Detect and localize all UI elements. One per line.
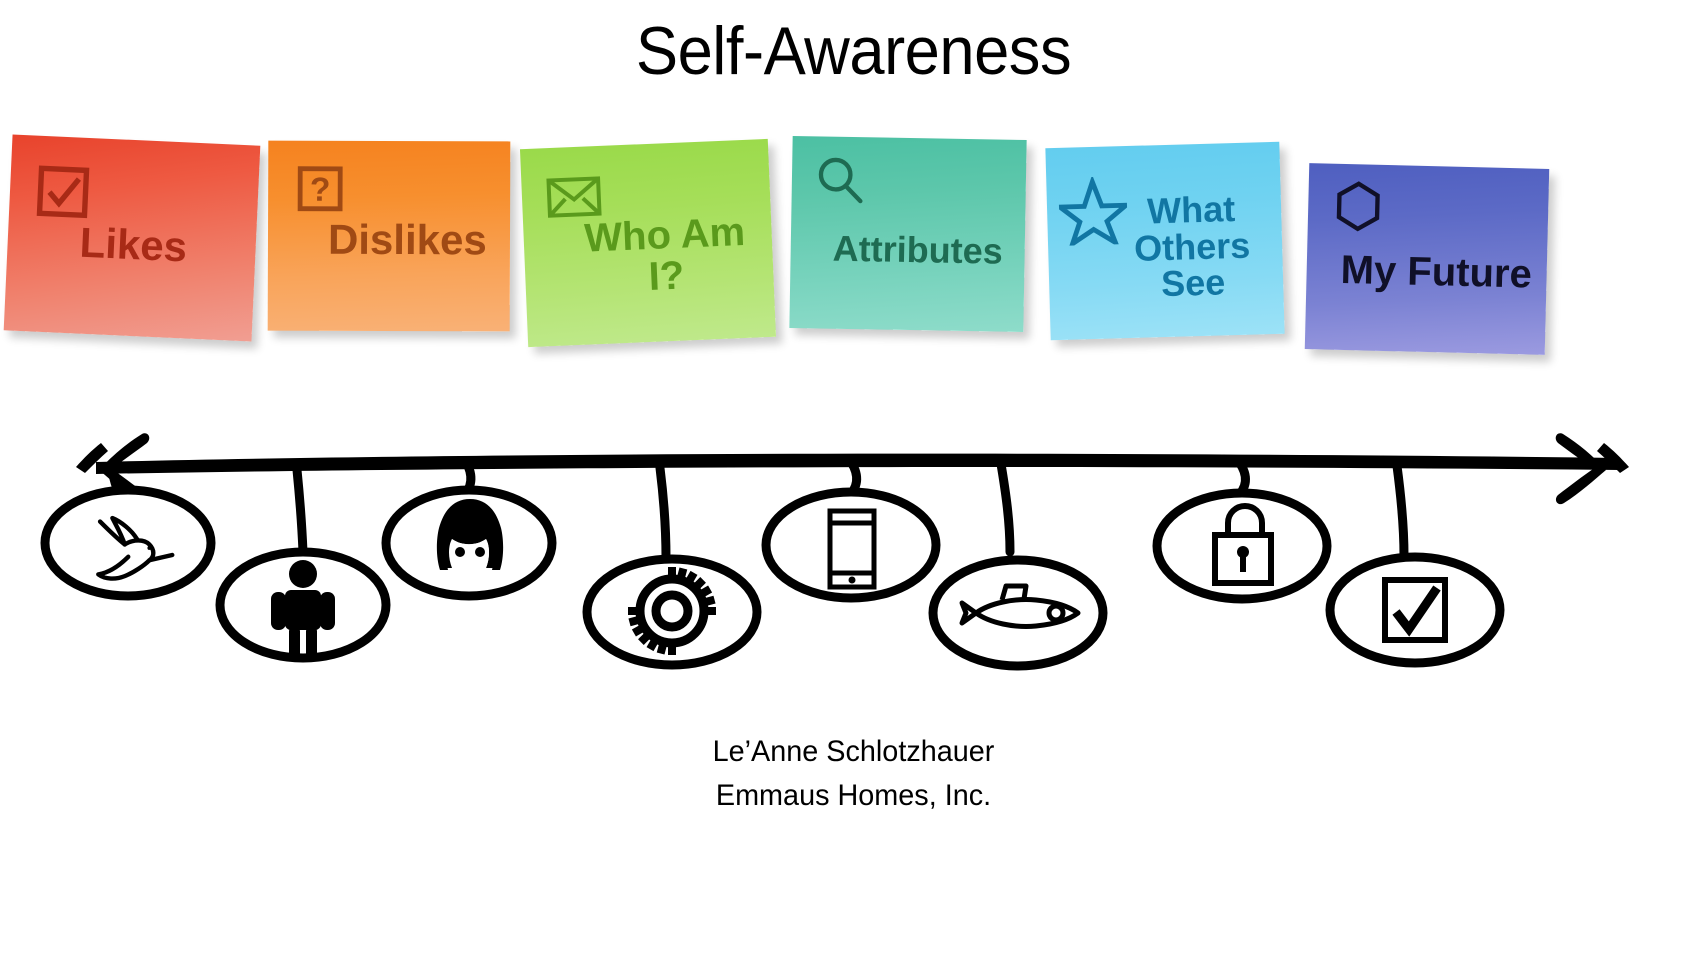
sticky-note-label: My Future xyxy=(1340,250,1532,295)
timeline-diagram xyxy=(0,400,1707,700)
timeline-bubble-padlock[interactable] xyxy=(1157,462,1327,599)
sticky-note-label: What Others See xyxy=(1105,190,1280,305)
sticky-note-label: Dislikes xyxy=(328,219,487,262)
magnifier-icon xyxy=(813,154,866,207)
sticky-note-dislikes[interactable]: ? Dislikes xyxy=(268,141,511,332)
sticky-note-row: Likes ? Dislikes Who Am I? xyxy=(0,0,1707,400)
sticky-note-label: Who Am I? xyxy=(579,212,752,301)
sticky-note-who-am-i[interactable]: Who Am I? xyxy=(520,139,776,347)
sticky-note-attributes[interactable]: Attributes xyxy=(789,136,1026,332)
timeline-bubble-smartphone[interactable] xyxy=(766,462,936,598)
attribution-block: Le’Anne Schlotzhauer Emmaus Homes, Inc. xyxy=(0,730,1707,818)
envelope-icon xyxy=(545,172,603,222)
author-name: Le’Anne Schlotzhauer xyxy=(34,730,1673,774)
organization-name: Emmaus Homes, Inc. xyxy=(34,774,1673,818)
timeline-bubble-woman-face[interactable] xyxy=(386,462,552,596)
timeline-bubble-checkbox[interactable] xyxy=(1330,466,1500,663)
sticky-note-likes[interactable]: Likes xyxy=(4,134,261,341)
sticky-note-my-future[interactable]: My Future xyxy=(1305,163,1549,355)
sticky-note-what-others-see[interactable]: What Others See xyxy=(1045,142,1284,340)
sticky-note-label: Attributes xyxy=(832,231,1003,271)
checkbox-checked-icon xyxy=(35,164,91,220)
hexagon-icon xyxy=(1332,180,1385,233)
timeline-bubble-person[interactable] xyxy=(220,470,386,659)
question-box-icon: ? xyxy=(296,165,344,213)
sticky-note-label: Likes xyxy=(79,222,188,270)
svg-text:?: ? xyxy=(310,172,331,209)
timeline-bubble-hummingbird[interactable] xyxy=(45,470,211,596)
timeline-bubble-rocket[interactable] xyxy=(933,464,1103,666)
timeline-bubble-gear[interactable] xyxy=(587,468,757,665)
